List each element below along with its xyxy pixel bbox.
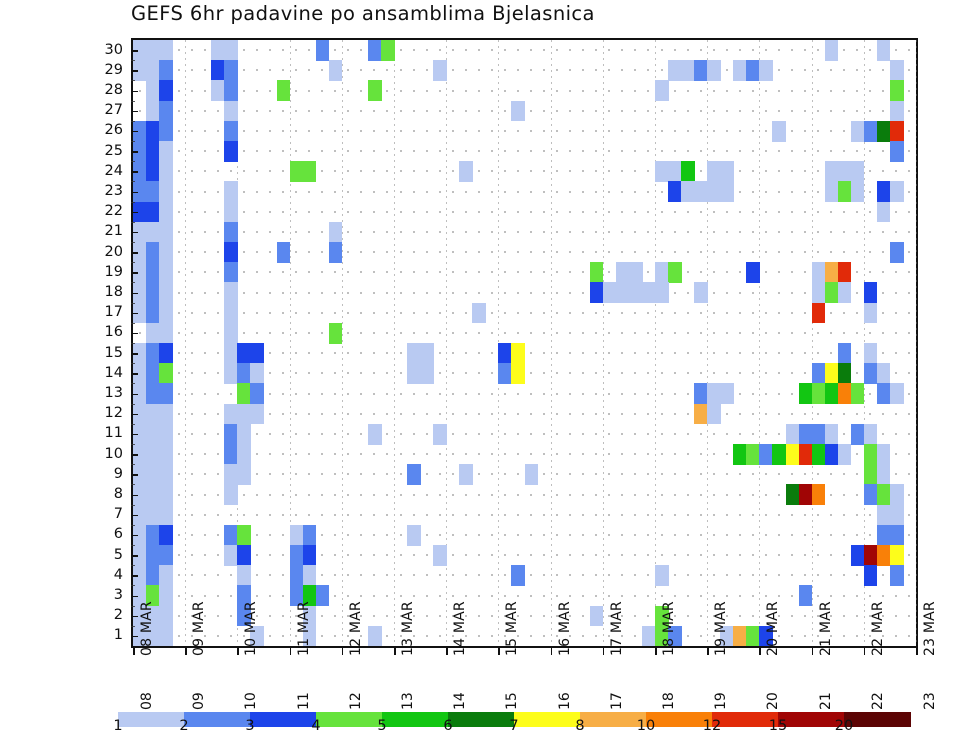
heatmap-cell	[694, 383, 708, 404]
x-tick-mark	[655, 648, 657, 655]
colorbar-tick-label: 7	[499, 718, 529, 734]
heatmap-cell	[812, 303, 826, 324]
heatmap-cell	[159, 484, 173, 505]
heatmap-cell	[786, 424, 800, 445]
heatmap-cell	[681, 181, 695, 202]
y-tick-mark-minor	[131, 242, 135, 243]
y-tick-mark	[131, 636, 138, 638]
x-tick-mark	[498, 648, 500, 655]
heatmap-cell	[159, 505, 173, 526]
heatmap-cell	[237, 525, 251, 546]
y-tick-label: 5	[97, 548, 123, 563]
heatmap-cell	[159, 444, 173, 465]
y-tick-mark-minor	[131, 585, 135, 586]
heatmap-cell	[877, 525, 891, 546]
heatmap-cell	[224, 545, 238, 566]
y-tick-mark	[131, 535, 138, 537]
x-tick-label-date: 15 MAR	[504, 601, 520, 656]
heatmap-cell	[864, 565, 878, 586]
heatmap-cell	[316, 40, 330, 61]
y-tick-label: 8	[97, 487, 123, 502]
x-tick-mark	[133, 648, 135, 655]
y-tick-mark	[131, 131, 138, 133]
heatmap-cell	[368, 424, 382, 445]
x-tick-mark	[812, 648, 814, 655]
heatmap-cell	[746, 262, 760, 283]
heatmap-cell	[838, 444, 852, 465]
heatmap-cell	[159, 202, 173, 223]
heatmap-cell	[224, 121, 238, 142]
heatmap-cell	[146, 202, 160, 223]
heatmap-cell	[655, 161, 669, 182]
heatmap-cell	[146, 464, 160, 485]
y-tick-mark-minor	[131, 343, 135, 344]
heatmap-cell	[368, 40, 382, 61]
x-tick-label-day: 14	[452, 692, 468, 710]
x-tick-label-day: 19	[713, 692, 729, 710]
x-tick-mark	[446, 648, 448, 655]
heatmap-cell	[159, 363, 173, 384]
heatmap-cell	[694, 181, 708, 202]
heatmap-cell	[890, 484, 904, 505]
y-tick-label: 16	[97, 325, 123, 340]
x-tick-label-date: 08 MAR	[139, 601, 155, 656]
colorbar-tick-label: 5	[367, 718, 397, 734]
y-tick-mark	[131, 394, 138, 396]
heatmap-cell	[159, 606, 173, 627]
heatmap-cell	[237, 444, 251, 465]
plot-area	[131, 38, 918, 648]
heatmap-cell	[250, 404, 264, 425]
y-tick-mark	[131, 474, 138, 476]
heatmap-cell	[420, 363, 434, 384]
heatmap-cell	[146, 222, 160, 243]
heatmap-cell	[237, 404, 251, 425]
heatmap-cell	[812, 282, 826, 303]
colorbar-tick-label: 1	[103, 718, 133, 734]
heatmap-cell	[629, 262, 643, 283]
heatmap-cell	[603, 282, 617, 303]
y-tick-label: 6	[97, 527, 123, 542]
heatmap-cell	[224, 181, 238, 202]
heatmap-cell	[825, 424, 839, 445]
heatmap-cell	[224, 40, 238, 61]
heatmap-cell	[433, 60, 447, 81]
x-tick-mark	[551, 648, 553, 655]
heatmap-cell	[146, 101, 160, 122]
heatmap-cell	[629, 282, 643, 303]
heatmap-cell	[159, 242, 173, 263]
heatmap-cell	[146, 242, 160, 263]
heatmap-cell	[146, 161, 160, 182]
heatmap-cell	[655, 262, 669, 283]
heatmap-cell	[838, 383, 852, 404]
y-tick-mark	[131, 91, 138, 93]
y-tick-mark	[131, 333, 138, 335]
heatmap-cell	[146, 545, 160, 566]
heatmap-cell	[277, 80, 291, 101]
heatmap-cell	[655, 282, 669, 303]
heatmap-cell	[224, 80, 238, 101]
heatmap-cell	[694, 404, 708, 425]
heatmap-cell	[851, 424, 865, 445]
heatmap-cell	[616, 282, 630, 303]
y-tick-mark	[131, 232, 138, 234]
heatmap-cell	[877, 444, 891, 465]
heatmap-cell	[890, 121, 904, 142]
heatmap-cell	[237, 363, 251, 384]
heatmap-cell	[812, 383, 826, 404]
x-tick-label-day: 17	[609, 692, 625, 710]
y-tick-mark-minor	[131, 161, 135, 162]
heatmap-cell	[159, 303, 173, 324]
heatmap-cell	[746, 444, 760, 465]
y-tick-label: 23	[97, 184, 123, 199]
x-tick-label-date: 21 MAR	[818, 601, 834, 656]
heatmap-cell	[224, 343, 238, 364]
heatmap-cell	[511, 565, 525, 586]
heatmap-cell	[511, 363, 525, 384]
y-tick-label: 30	[97, 43, 123, 58]
colorbar-tick-label: 15	[763, 718, 793, 734]
heatmap-cell	[159, 262, 173, 283]
y-tick-mark-minor	[131, 303, 135, 304]
x-tick-label-date: 11 MAR	[296, 601, 312, 656]
heatmap-cell	[864, 282, 878, 303]
y-tick-mark	[131, 272, 138, 274]
heatmap-cell	[590, 282, 604, 303]
colorbar-tick-label: 10	[631, 718, 661, 734]
heatmap-cell	[864, 484, 878, 505]
heatmap-cell	[407, 343, 421, 364]
heatmap-cell	[303, 161, 317, 182]
heatmap-cell	[146, 121, 160, 142]
x-tick-label-day: 16	[557, 692, 573, 710]
heatmap-cell	[877, 363, 891, 384]
heatmap-cell	[694, 282, 708, 303]
heatmap-cell	[472, 303, 486, 324]
y-tick-mark-minor	[131, 141, 135, 142]
heatmap-cell	[877, 383, 891, 404]
heatmap-cell	[799, 444, 813, 465]
x-tick-label-date: 20 MAR	[765, 601, 781, 656]
heatmap-cell	[877, 545, 891, 566]
heatmap-cell	[146, 282, 160, 303]
y-tick-mark-minor	[131, 363, 135, 364]
heatmap-cell	[290, 525, 304, 546]
y-tick-mark	[131, 252, 138, 254]
heatmap-cell	[877, 484, 891, 505]
x-tick-mark	[237, 648, 239, 655]
heatmap-cell	[146, 363, 160, 384]
y-tick-label: 21	[97, 224, 123, 239]
heatmap-cell	[250, 363, 264, 384]
y-tick-label: 9	[97, 467, 123, 482]
x-tick-mark	[864, 648, 866, 655]
heatmap-cell	[864, 343, 878, 364]
y-tick-label: 2	[97, 608, 123, 623]
y-tick-label: 7	[97, 507, 123, 522]
heatmap-cell	[211, 60, 225, 81]
heatmap-cell	[851, 181, 865, 202]
heatmap-cell	[211, 80, 225, 101]
x-tick-label-day: 20	[765, 692, 781, 710]
heatmap-cell	[407, 363, 421, 384]
colorbar-tick-label: 8	[565, 718, 595, 734]
heatmap-cell	[890, 505, 904, 526]
heatmap-cell	[381, 40, 395, 61]
heatmap-cell	[224, 464, 238, 485]
heatmap-cell	[498, 363, 512, 384]
y-tick-mark	[131, 515, 138, 517]
heatmap-cell	[224, 141, 238, 162]
y-tick-mark	[131, 434, 138, 436]
heatmap-cell	[877, 202, 891, 223]
x-tick-label-date: 09 MAR	[191, 601, 207, 656]
heatmap-cell	[838, 363, 852, 384]
y-tick-mark-minor	[131, 202, 135, 203]
heatmap-cell	[159, 424, 173, 445]
x-tick-mark	[394, 648, 396, 655]
y-tick-mark-minor	[131, 424, 135, 425]
heatmap-cell	[329, 60, 343, 81]
heatmap-cell	[159, 545, 173, 566]
heatmap-cell	[159, 222, 173, 243]
heatmap-cell	[864, 545, 878, 566]
heatmap-cell	[159, 404, 173, 425]
heatmap-cell	[707, 60, 721, 81]
heatmap-cell	[420, 343, 434, 364]
heatmap-cell	[707, 181, 721, 202]
heatmap-cell	[825, 444, 839, 465]
x-tick-label-date: 18 MAR	[661, 601, 677, 656]
heatmap-cell	[159, 383, 173, 404]
y-tick-mark-minor	[131, 222, 135, 223]
heatmap-cell	[825, 40, 839, 61]
heatmap-cell	[159, 343, 173, 364]
heatmap-cell	[159, 60, 173, 81]
x-tick-label-day: 13	[400, 692, 416, 710]
heatmap-cell	[681, 161, 695, 182]
heatmap-cell	[250, 383, 264, 404]
heatmap-cell	[864, 464, 878, 485]
heatmap-cell	[146, 424, 160, 445]
colorbar-tick-label: 12	[697, 718, 727, 734]
heatmap-cell	[812, 484, 826, 505]
heatmap-cell	[851, 121, 865, 142]
heatmap-cell	[459, 161, 473, 182]
heatmap-cell	[838, 161, 852, 182]
heatmap-cell	[159, 585, 173, 606]
chart-title: GEFS 6hr padavine po ansamblima Bjelasni…	[131, 2, 921, 25]
heatmap-cell	[237, 464, 251, 485]
heatmap-cell	[146, 404, 160, 425]
heatmap-cell	[799, 383, 813, 404]
heatmap-cell	[303, 545, 317, 566]
y-tick-mark-minor	[131, 525, 135, 526]
heatmap-cell	[799, 585, 813, 606]
y-tick-label: 10	[97, 447, 123, 462]
x-tick-label-day: 09	[191, 692, 207, 710]
colorbar-tick-label: 4	[301, 718, 331, 734]
heatmap-cell	[786, 484, 800, 505]
y-tick-mark	[131, 212, 138, 214]
y-tick-mark-minor	[131, 323, 135, 324]
colorbar-tick-label: 20	[829, 718, 859, 734]
y-tick-mark	[131, 313, 138, 315]
heatmap-cell	[329, 242, 343, 263]
x-tick-mark	[916, 648, 918, 655]
heatmap-cell	[159, 565, 173, 586]
heatmap-cell	[786, 444, 800, 465]
heatmap-cell	[877, 40, 891, 61]
y-tick-mark-minor	[131, 484, 135, 485]
heatmap-cell	[159, 464, 173, 485]
heatmap-cell	[890, 565, 904, 586]
y-tick-mark-minor	[131, 282, 135, 283]
x-tick-label-day: 12	[348, 692, 364, 710]
heatmap-cell	[224, 101, 238, 122]
heatmap-cell	[825, 181, 839, 202]
heatmap-cell	[825, 282, 839, 303]
heatmap-cell	[890, 80, 904, 101]
heatmap-cell	[511, 343, 525, 364]
heatmap-cell	[224, 262, 238, 283]
y-tick-mark	[131, 495, 138, 497]
heatmap-cell	[838, 343, 852, 364]
heatmap-cell	[668, 181, 682, 202]
y-tick-mark-minor	[131, 60, 135, 61]
x-tick-label-day: 18	[661, 692, 677, 710]
heatmap-cell	[720, 181, 734, 202]
heatmap-cell	[303, 525, 317, 546]
heatmap-cell	[890, 242, 904, 263]
heatmap-cell	[864, 303, 878, 324]
y-tick-label: 15	[97, 346, 123, 361]
x-tick-mark	[759, 648, 761, 655]
heatmap-cell	[799, 424, 813, 445]
heatmap-cell	[224, 222, 238, 243]
heatmap-cell	[224, 424, 238, 445]
heatmap-cell	[237, 424, 251, 445]
heatmap-cell	[146, 444, 160, 465]
y-tick-label: 24	[97, 164, 123, 179]
x-tick-label-date: 16 MAR	[557, 601, 573, 656]
y-tick-mark-minor	[131, 505, 135, 506]
y-tick-label: 27	[97, 103, 123, 118]
y-tick-mark	[131, 50, 138, 52]
x-tick-label-date: 23 MAR	[922, 601, 938, 656]
x-tick-mark	[342, 648, 344, 655]
heatmap-cell	[707, 404, 721, 425]
heatmap-cell	[277, 242, 291, 263]
colorbar-tick-label: 6	[433, 718, 463, 734]
heatmap-cell	[146, 505, 160, 526]
heatmap-cell	[159, 80, 173, 101]
y-tick-label: 4	[97, 568, 123, 583]
heatmap-cell	[511, 101, 525, 122]
heatmap-cell	[146, 262, 160, 283]
x-tick-label-date: 14 MAR	[452, 601, 468, 656]
day-divider	[916, 40, 917, 646]
heatmap-cell	[146, 141, 160, 162]
heatmap-cell	[146, 565, 160, 586]
y-tick-mark-minor	[131, 181, 135, 182]
heatmap-cell	[864, 121, 878, 142]
y-tick-mark-minor	[131, 545, 135, 546]
y-tick-mark-minor	[131, 404, 135, 405]
heatmap-cell	[890, 141, 904, 162]
heatmap-cell	[159, 121, 173, 142]
heatmap-cell	[890, 60, 904, 81]
heatmap-cell	[864, 363, 878, 384]
heatmap-cell	[159, 181, 173, 202]
heatmap-cell	[720, 383, 734, 404]
y-tick-mark	[131, 171, 138, 173]
y-tick-mark-minor	[131, 262, 135, 263]
y-tick-label: 14	[97, 366, 123, 381]
x-tick-mark	[185, 648, 187, 655]
x-tick-mark	[707, 648, 709, 655]
heatmap-cell	[812, 424, 826, 445]
heatmap-cell	[864, 444, 878, 465]
heatmap-cell	[746, 60, 760, 81]
y-tick-mark	[131, 373, 138, 375]
heatmap-cell	[825, 363, 839, 384]
y-tick-mark-minor	[131, 101, 135, 102]
y-tick-mark	[131, 575, 138, 577]
heatmap-cell	[159, 101, 173, 122]
y-tick-mark-minor	[131, 606, 135, 607]
heatmap-cell	[498, 343, 512, 364]
y-tick-label: 17	[97, 305, 123, 320]
x-tick-label-date: 19 MAR	[713, 601, 729, 656]
heatmap-cell	[146, 343, 160, 364]
heatmap-cell	[224, 282, 238, 303]
heatmap-cell	[237, 383, 251, 404]
heatmap-cell	[224, 444, 238, 465]
heatmap-cell	[146, 181, 160, 202]
y-tick-label: 29	[97, 63, 123, 78]
y-tick-mark-minor	[131, 444, 135, 445]
heatmap-cell	[877, 505, 891, 526]
y-tick-mark	[131, 616, 138, 618]
heatmap-cell	[224, 202, 238, 223]
heatmap-cell	[877, 464, 891, 485]
heatmap-cell	[799, 484, 813, 505]
heatmap-cell	[733, 626, 747, 646]
x-tick-label-date: 10 MAR	[243, 601, 259, 656]
heatmap-cell	[838, 181, 852, 202]
heatmap-cell	[290, 565, 304, 586]
y-tick-label: 13	[97, 386, 123, 401]
heatmap-cell	[224, 525, 238, 546]
y-tick-label: 22	[97, 204, 123, 219]
heatmap-cell	[890, 181, 904, 202]
heatmap-cell	[146, 383, 160, 404]
heatmap-cell	[237, 343, 251, 364]
heatmap-cell	[655, 80, 669, 101]
y-tick-label: 28	[97, 83, 123, 98]
heatmap-cell	[224, 363, 238, 384]
heatmap-cell	[433, 424, 447, 445]
heatmap-cell	[146, 303, 160, 324]
heatmap-cell	[655, 565, 669, 586]
heatmap-cell	[838, 282, 852, 303]
heatmap-cell	[759, 60, 773, 81]
heatmap-cell	[146, 525, 160, 546]
heatmap-cell	[759, 444, 773, 465]
